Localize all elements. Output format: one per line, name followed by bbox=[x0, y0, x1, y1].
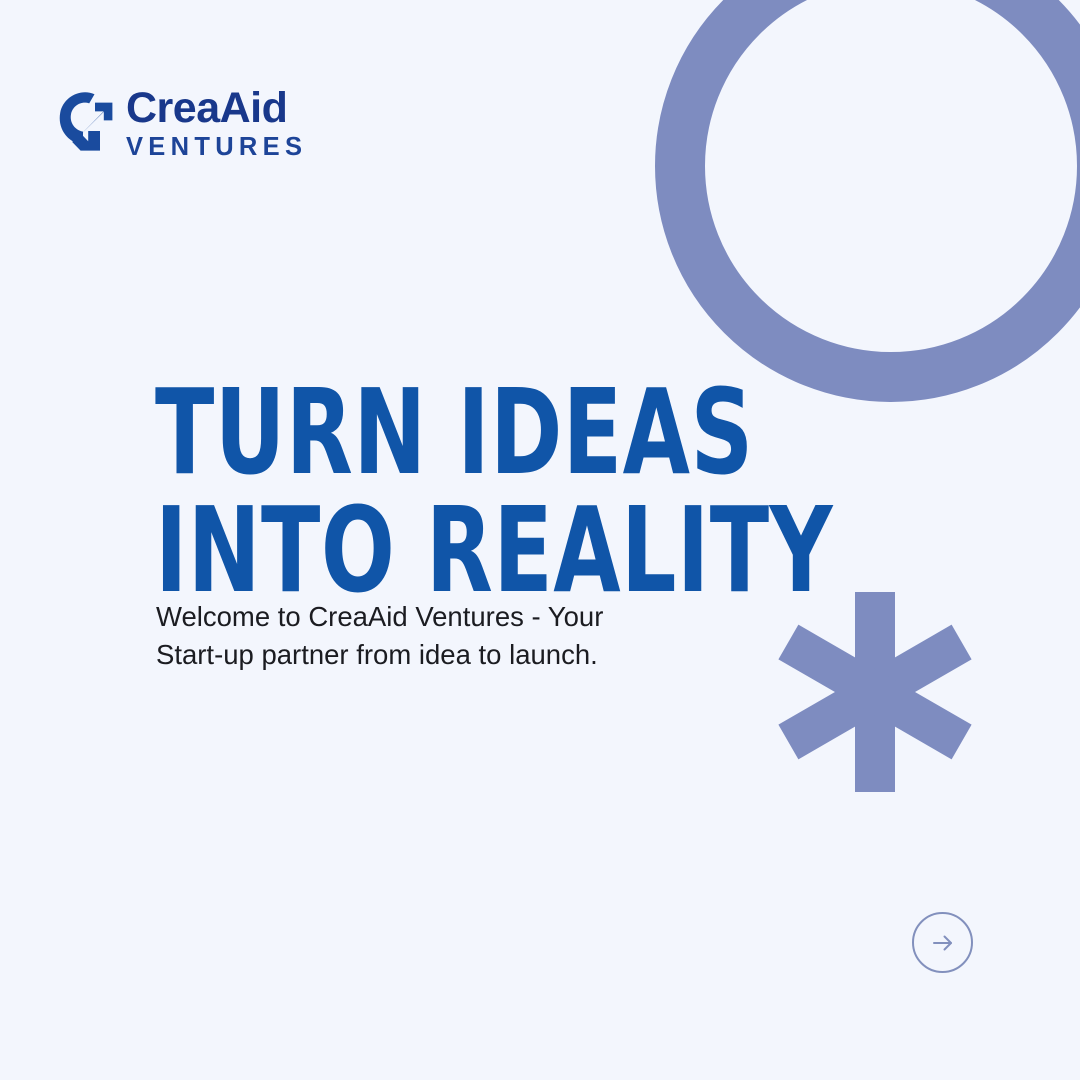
headline-line-2: INTO REALITY bbox=[155, 491, 680, 609]
brand-logo[interactable]: CreaAid VENTURES bbox=[58, 86, 307, 162]
logo-subtitle: VENTURES bbox=[126, 133, 307, 161]
circular-arrow-growth-icon bbox=[58, 86, 114, 162]
next-arrow-button[interactable] bbox=[912, 912, 973, 973]
page-title: TURN IDEAS INTO REALITY bbox=[155, 373, 680, 609]
asterisk-bar bbox=[855, 592, 895, 792]
arrow-right-icon bbox=[928, 928, 958, 958]
logo-wordmark: CreaAid VENTURES bbox=[126, 87, 307, 162]
asterisk-bar bbox=[778, 625, 971, 760]
headline-line-1: TURN IDEAS bbox=[155, 373, 680, 491]
subtitle-text: Welcome to CreaAid Ventures - Your Start… bbox=[156, 598, 626, 675]
poster-canvas: CreaAid VENTURES TURN IDEAS INTO REALITY… bbox=[0, 0, 1080, 1080]
asterisk-decoration bbox=[775, 592, 975, 792]
logo-name: CreaAid bbox=[126, 87, 307, 131]
asterisk-bar bbox=[778, 625, 971, 760]
ring-decoration bbox=[655, 0, 1080, 402]
